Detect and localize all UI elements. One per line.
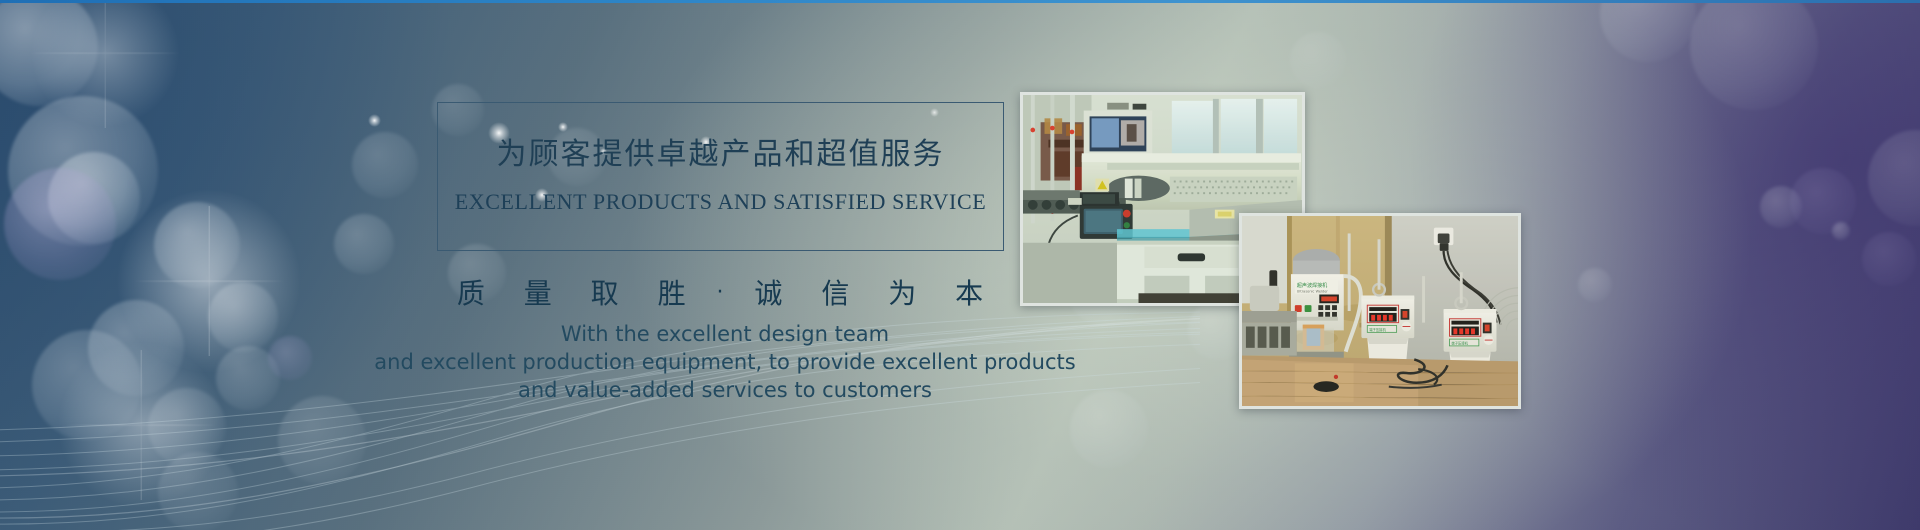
slogan-char-8: 本 <box>955 277 984 310</box>
description-line-1: With the excellent design team <box>330 320 1120 348</box>
slogan-char-5: 诚 <box>754 277 783 310</box>
top-accent-line <box>0 0 1920 3</box>
slogan-separator: · <box>717 280 725 305</box>
description-paragraph: With the excellent design team and excel… <box>330 320 1120 404</box>
crimping-machines-photo-image: 超声波焊接机 Ultrasonic Welder <box>1242 216 1518 406</box>
crimping-machines-photo[interactable]: 超声波焊接机 Ultrasonic Welder <box>1239 213 1521 409</box>
slogan-char-4: 胜 <box>658 277 687 310</box>
slogan-char-1: 质 <box>457 277 486 310</box>
slogan-char-2: 量 <box>524 277 553 310</box>
company-banner: 为顾客提供卓越产品和超值服务 EXCELLENT PRODUCTS AND SA… <box>0 0 1920 530</box>
description-line-3: and value-added services to customers <box>330 376 1120 404</box>
slogan-char-7: 为 <box>888 277 917 310</box>
description-line-2: and excellent production equipment, to p… <box>330 348 1120 376</box>
headline-chinese: 为顾客提供卓越产品和超值服务 <box>437 129 1004 173</box>
headline-border-box <box>437 102 1004 251</box>
headline-english: EXCELLENT PRODUCTS AND SATISFIED SERVICE <box>437 189 1004 215</box>
slogan-chinese: 质 量 取 胜 · 诚 信 为 本 <box>437 272 1004 312</box>
slogan-char-3: 取 <box>591 277 620 310</box>
slogan-char-6: 信 <box>821 277 850 310</box>
